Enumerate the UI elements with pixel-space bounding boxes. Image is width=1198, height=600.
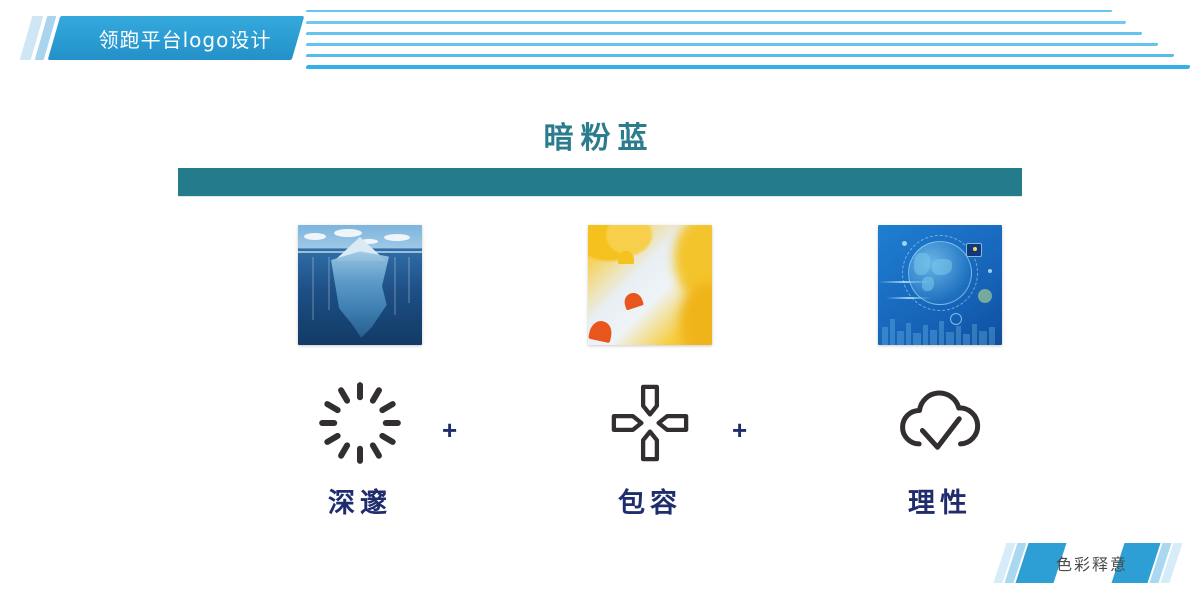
footer-badge: 色彩释意 [998,543,1178,585]
concept-column-1: 深邃 [248,225,472,520]
stripe-1 [306,10,1113,12]
concept-caption-3: 理性 [828,481,1052,520]
stripe-3 [306,32,1143,35]
stripe-5 [306,54,1175,57]
plus-operator-1: + [442,415,457,446]
concept-caption-1: 深邃 [248,481,472,520]
radial-dashes-icon [248,373,472,473]
header-stripe-group [306,10,1198,72]
cloud-check-icon [828,373,1052,473]
tech-globe-photo [878,225,1002,345]
slide-canvas: 领跑平台logo设计 暗粉蓝 [0,0,1198,600]
autumn-leaves-photo [588,225,712,345]
content-columns: 深邃 [178,225,1022,525]
concept-column-2: 包容 [538,225,762,520]
plus-operator-2: + [732,415,747,446]
title-divider-bar [178,168,1022,196]
stripe-6 [305,65,1190,69]
slide-header: 领跑平台logo设计 [0,0,1198,90]
footer-label: 色彩释意 [1054,543,1130,583]
four-arrows-inward-icon [538,373,762,473]
concept-column-3: 理性 [828,225,1052,520]
iceberg-photo [298,225,422,345]
header-badge: 领跑平台logo设计 [22,16,298,60]
stripe-2 [306,21,1127,24]
stripe-4 [306,43,1159,46]
concept-caption-2: 包容 [538,481,762,520]
page-title: 暗粉蓝 [0,113,1198,157]
header-badge-label: 领跑平台logo设计 [60,16,310,60]
